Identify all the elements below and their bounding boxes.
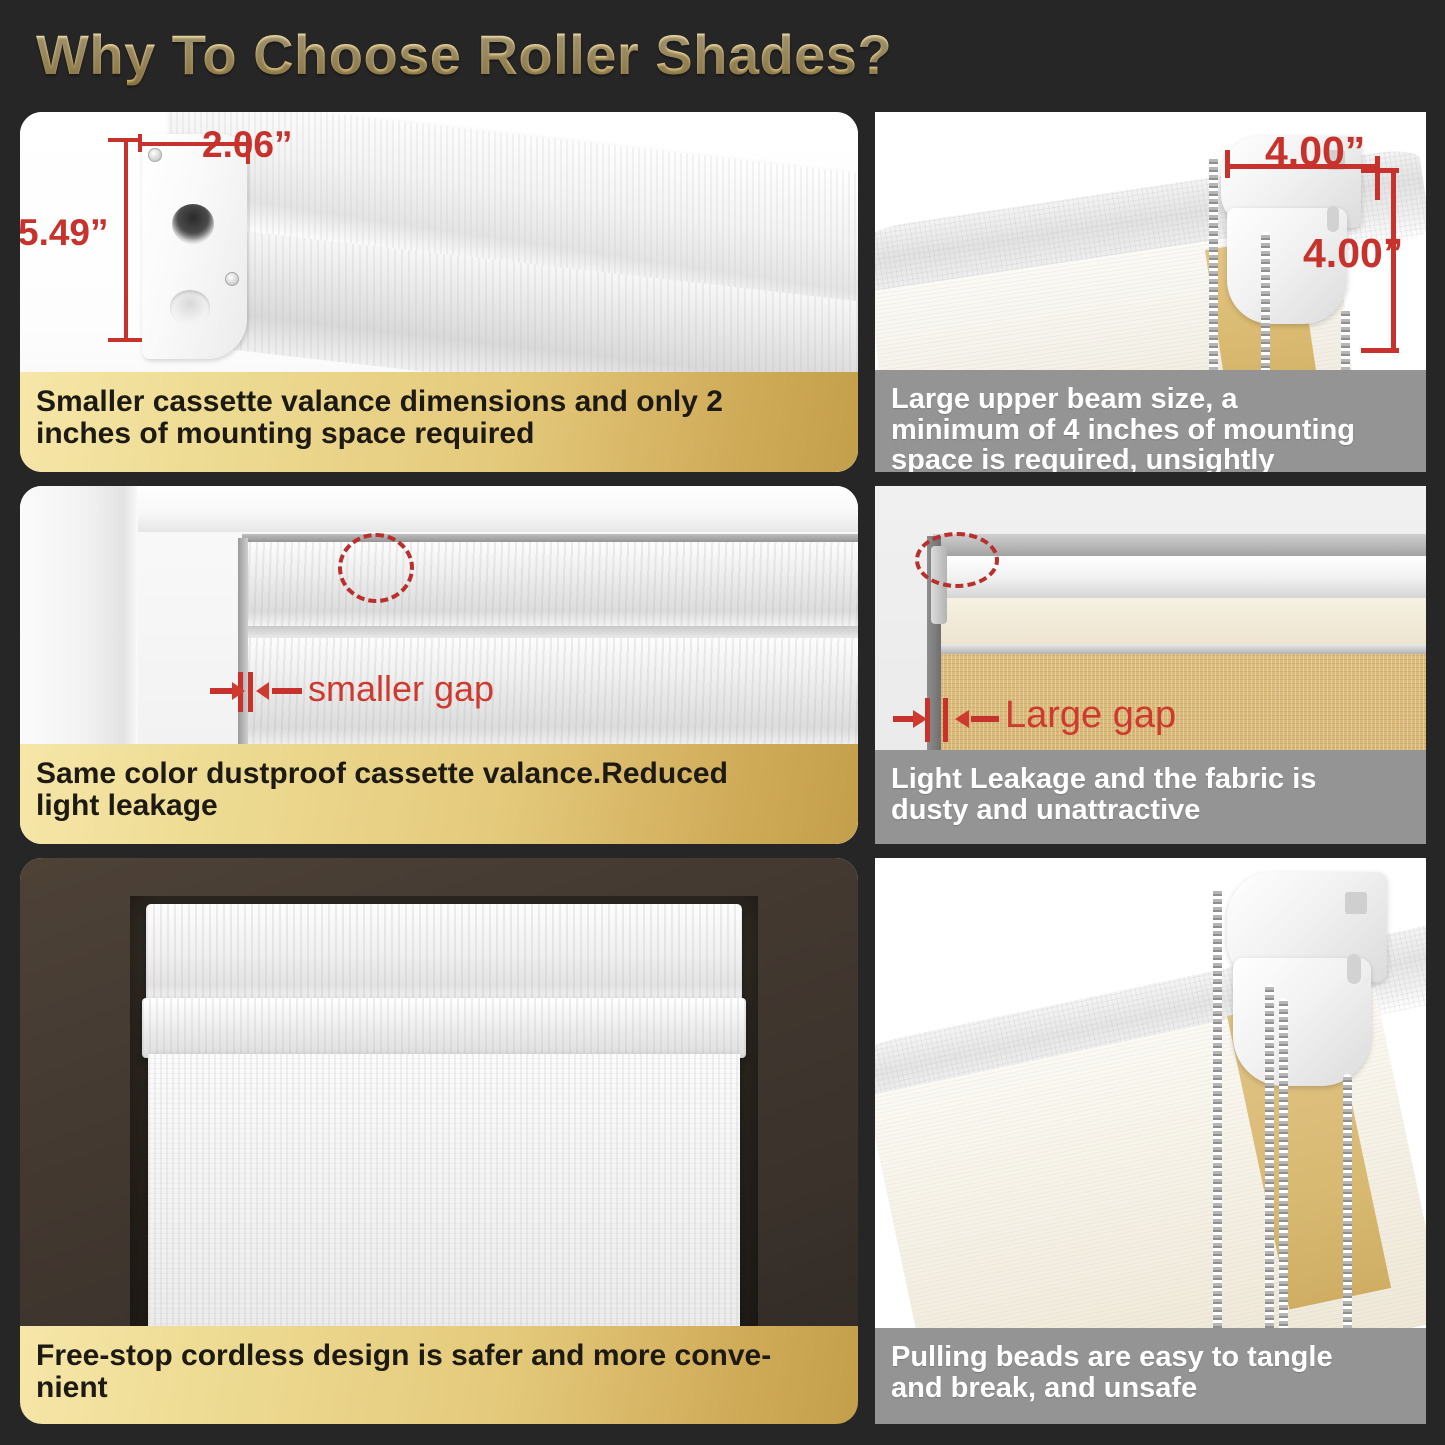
gap-arrow-right-head-icon <box>955 710 969 728</box>
gap-highlight-ellipse <box>338 533 414 603</box>
panel-5-caption-line-1: Free-stop cordless design is safer and m… <box>36 1340 771 1372</box>
gap-arrow-right-shaft <box>971 716 999 722</box>
width-dimension-label: 2.06” <box>202 124 293 166</box>
width-dim-tick-left <box>1225 150 1230 178</box>
page-title: Why To Choose Roller Shades? <box>36 22 1236 94</box>
panel-dustproof-valance: smaller gap Same color dustproof cassett… <box>20 486 858 844</box>
panel-5-caption-line-2: nient <box>36 1372 771 1404</box>
bead-chain <box>1261 232 1270 382</box>
valance-bracket-hole <box>172 204 214 244</box>
panel-2-caption-line-3: space is required, unsightly <box>891 445 1355 472</box>
bead-chain <box>1343 1074 1352 1358</box>
gap-arrow-left-head-icon <box>232 682 245 700</box>
panel-4-caption: Light Leakage and the fabric is dusty an… <box>875 750 1426 844</box>
valance-cream-band <box>937 598 1426 646</box>
gap-arrow-right-shaft <box>272 688 302 694</box>
shade-fabric <box>148 1054 740 1369</box>
panel-light-leakage: Large gap Light Leakage and the fabric i… <box>875 486 1426 844</box>
bottom-rail <box>933 644 1426 654</box>
cassette-valance <box>146 904 742 1008</box>
panel-smaller-cassette: 2.06” 5.49” Smaller cassette valance dim… <box>20 112 858 472</box>
screw-icon <box>225 272 239 286</box>
valance-lower-hole <box>170 290 210 324</box>
valance-lip <box>142 998 746 1058</box>
panel-6-caption: Pulling beads are easy to tangle and bre… <box>875 1328 1426 1424</box>
infographic-root: Why To Choose Roller Shades? 2.06” 5.49” <box>0 0 1445 1445</box>
bracket-slot-icon <box>1347 954 1361 984</box>
panel-1-caption-line-1: Smaller cassette valance dimensions and … <box>36 386 723 418</box>
panel-4-caption-line-1: Light Leakage and the fabric is <box>891 764 1316 795</box>
height-dim-tick-bottom <box>1361 348 1399 353</box>
height-dim-tick-bottom <box>108 338 142 342</box>
width-dimension-label: 4.00” <box>1265 128 1365 175</box>
large-gap-label: Large gap <box>1005 694 1176 737</box>
valance-end-cap <box>142 134 247 359</box>
screw-icon <box>148 148 162 162</box>
width-dim-tick-right <box>1375 156 1380 200</box>
bracket-slot-icon <box>1345 892 1367 914</box>
panel-5-caption: Free-stop cordless design is safer and m… <box>20 1326 858 1424</box>
smaller-gap-label: smaller gap <box>308 668 494 710</box>
panel-6-caption-line-2: and break, and unsafe <box>891 1373 1333 1404</box>
gap-arrow-right-head-icon <box>256 682 269 700</box>
panel-1-caption-line-2: inches of mounting space required <box>36 418 723 450</box>
panel-cordless-design: Free-stop cordless design is safer and m… <box>20 858 858 1424</box>
window-frame-top <box>120 486 858 532</box>
gap-bar-right <box>943 698 948 742</box>
panel-3-caption-line-1: Same color dustproof cassette valance.Re… <box>36 758 728 790</box>
panel-2-caption: Large upper beam size, a minimum of 4 in… <box>875 370 1426 472</box>
panel-3-caption-line-2: light leakage <box>36 790 728 822</box>
panel-3-caption: Same color dustproof cassette valance.Re… <box>20 744 858 844</box>
panel-1-caption: Smaller cassette valance dimensions and … <box>20 372 858 472</box>
bead-chain <box>1209 156 1218 381</box>
height-dim-tick-top <box>1361 168 1399 173</box>
panel-large-upper-beam: 4.00” 4.00” Large upper beam size, a min… <box>875 112 1426 472</box>
bead-chain <box>1213 888 1222 1358</box>
panel-6-caption-line-1: Pulling beads are easy to tangle <box>891 1342 1333 1373</box>
valance-front-band <box>242 542 858 628</box>
bead-chain <box>1265 984 1274 1358</box>
height-dimension-label: 5.49” <box>20 212 109 254</box>
bead-chain <box>1279 998 1288 1358</box>
panel-2-caption-line-2: minimum of 4 inches of mounting <box>891 415 1355 446</box>
panel-2-caption-line-1: Large upper beam size, a <box>891 384 1355 415</box>
height-dim-tick-top <box>108 138 142 142</box>
panel-4-caption-line-2: dusty and unattractive <box>891 795 1316 826</box>
valance-front <box>933 556 1426 602</box>
height-dim-line <box>124 138 128 342</box>
height-dimension-label: 4.00” <box>1303 230 1403 277</box>
gap-bar-right <box>248 672 253 712</box>
width-dim-tick-left <box>138 134 142 152</box>
gap-arrow-left-head-icon <box>913 710 927 728</box>
gap-highlight-ellipse <box>915 532 999 588</box>
panel-pulling-beads: Pulling beads are easy to tangle and bre… <box>875 858 1426 1424</box>
bracket-slot-icon <box>1327 206 1339 232</box>
